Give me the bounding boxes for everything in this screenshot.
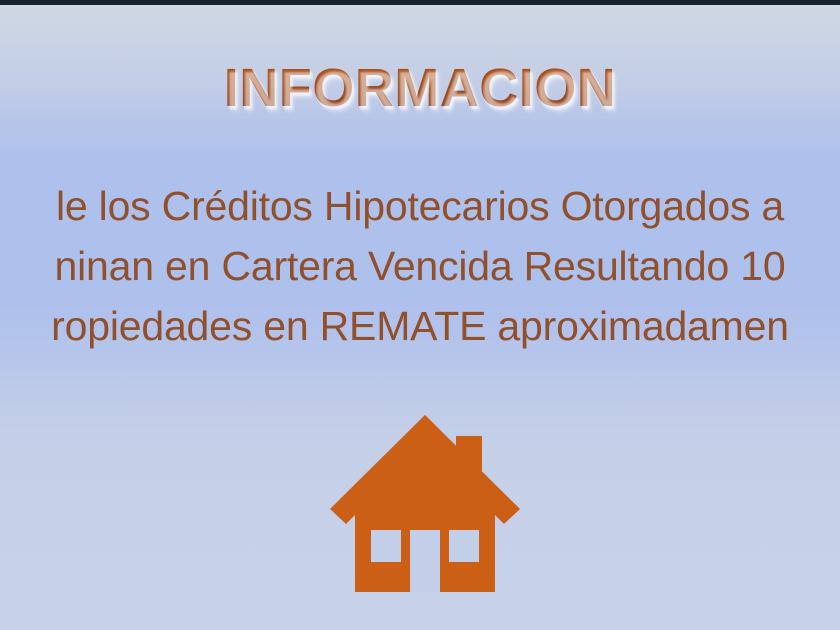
body-line-3: ropiedades en REMATE aproximadamen [0,296,840,356]
house-illustration [327,412,523,597]
house-icon [327,412,523,597]
body-line-1: le los Créditos Hipotecarios Otorgados a [0,176,840,236]
slide-title: INFORMACION [224,58,616,118]
top-edge-strip [0,0,840,5]
slide-body-text: le los Créditos Hipotecarios Otorgados a… [0,176,840,356]
body-line-2: ninan en Cartera Vencida Resultando 10 [0,236,840,296]
slide-canvas: INFORMACION le los Créditos Hipotecarios… [0,0,840,630]
slide-title-band: INFORMACION [0,58,840,118]
